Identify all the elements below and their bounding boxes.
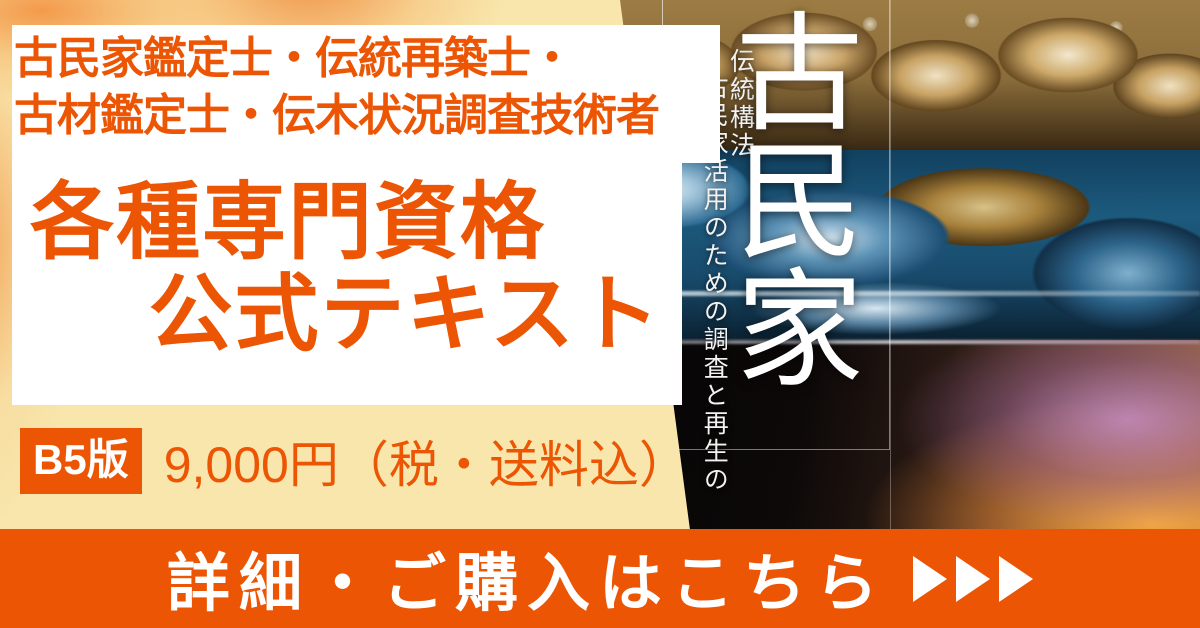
price-row: B5版 9,000円（税・送料込）	[20, 428, 689, 494]
cta-label: 詳細・ご購入はこちら	[167, 533, 887, 624]
headline: 各種専門資格 公式テキスト	[12, 176, 684, 361]
qualifications-line-2: 古材鑑定士・伝木状況調査技術者	[14, 87, 720, 144]
cover-vertical-rule-right	[890, 0, 891, 530]
qualifications-line-1: 古民家鑑定士・伝統再築士・	[14, 30, 720, 87]
headline-line-2: 公式テキスト	[12, 268, 684, 360]
arrow-right-icon	[913, 556, 947, 602]
cta-arrows	[913, 556, 1033, 602]
cta-bar[interactable]: 詳細・ご購入はこちら	[0, 529, 1200, 628]
price-amount: 9,000円（税・送料込）	[164, 425, 689, 497]
qualifications-list: 古民家鑑定士・伝統再築士・ 古材鑑定士・伝木状況調査技術者	[14, 30, 720, 144]
format-badge: B5版	[20, 428, 142, 494]
headline-line-1: 各種専門資格	[12, 176, 684, 268]
arrow-right-icon	[956, 556, 990, 602]
arrow-right-icon	[999, 556, 1033, 602]
promo-banner: 伝統構法 古民家活用のための調査と再生の 古民家 古民家鑑定士・伝統再築士・ 古…	[0, 0, 1200, 628]
